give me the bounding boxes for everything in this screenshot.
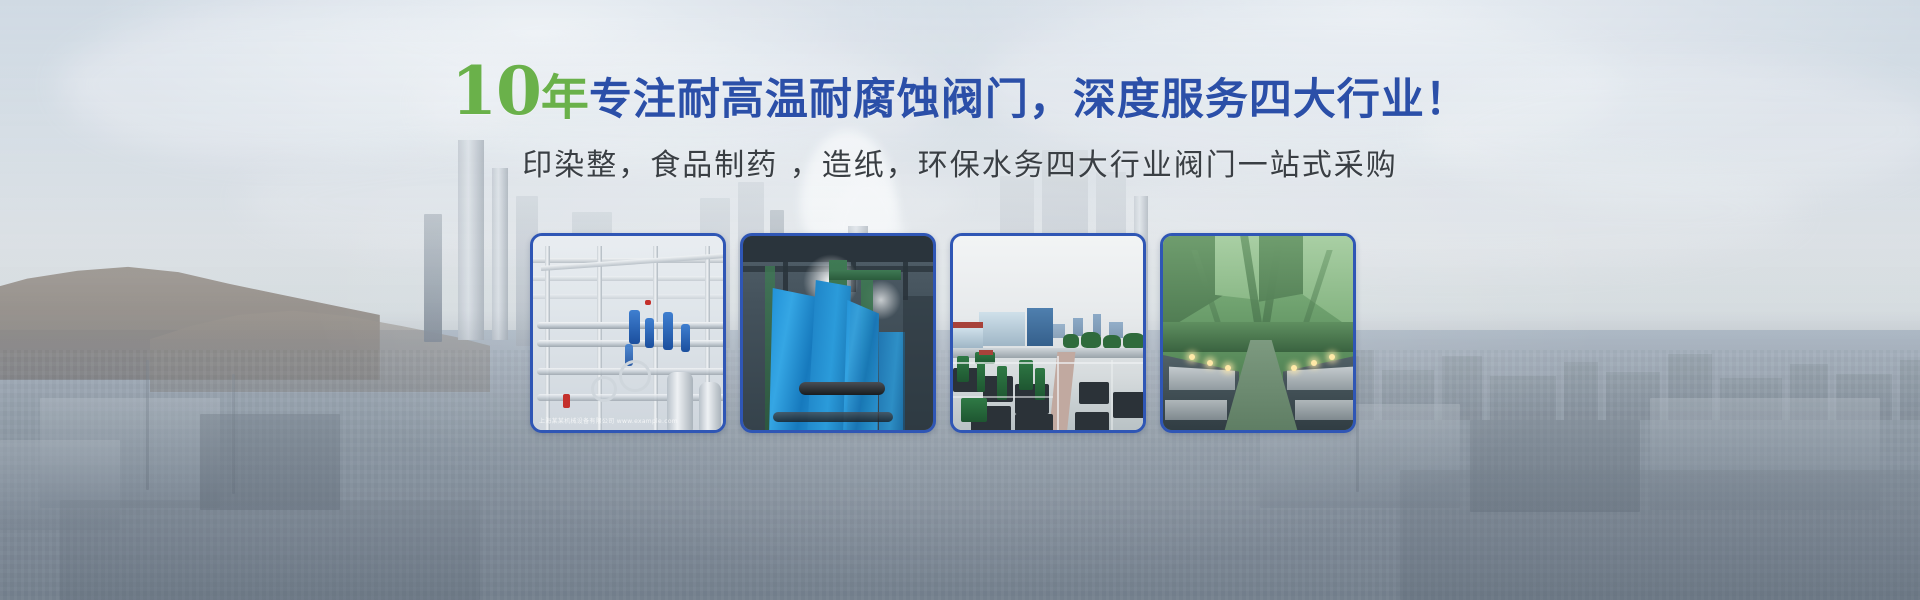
image-watermark: 上海某某机械设备有限公司 www.example.com [539, 416, 678, 425]
banner-copy: 10年专注耐高温耐腐蚀阀门，深度服务四大行业！ 印染整，食品制药 ，造纸，环保水… [0, 58, 1920, 184]
banner-headline: 10年专注耐高温耐腐蚀阀门，深度服务四大行业！ [0, 58, 1920, 124]
thumbnail-image [953, 236, 1143, 430]
industry-thumbnail-strip: 上海某某机械设备有限公司 www.example.com [530, 233, 1390, 433]
headline-main-text: 专注耐高温耐腐蚀阀门，深度服务四大行业！ [589, 75, 1469, 125]
thumbnail-water-treatment-plant[interactable] [950, 233, 1146, 433]
thumbnail-image: 上海某某机械设备有限公司 www.example.com [533, 236, 723, 430]
thumbnail-paper-mill-corridor[interactable] [1160, 233, 1356, 433]
banner-subheadline: 印染整，食品制药 ，造纸，环保水务四大行业阀门一站式采购 [0, 140, 1920, 184]
years-number: 10 [451, 52, 541, 130]
years-badge: 10年 [451, 52, 589, 130]
thumbnail-image [1163, 236, 1353, 430]
thumbnail-image [743, 236, 933, 430]
thumbnail-pharmaceutical-skid[interactable]: 上海某某机械设备有限公司 www.example.com [530, 233, 726, 433]
years-unit: 年 [541, 70, 589, 126]
hero-banner: 10年专注耐高温耐腐蚀阀门，深度服务四大行业！ 印染整，食品制药 ，造纸，环保水… [0, 0, 1920, 600]
thumbnail-textile-dyeing-line[interactable] [740, 233, 936, 433]
